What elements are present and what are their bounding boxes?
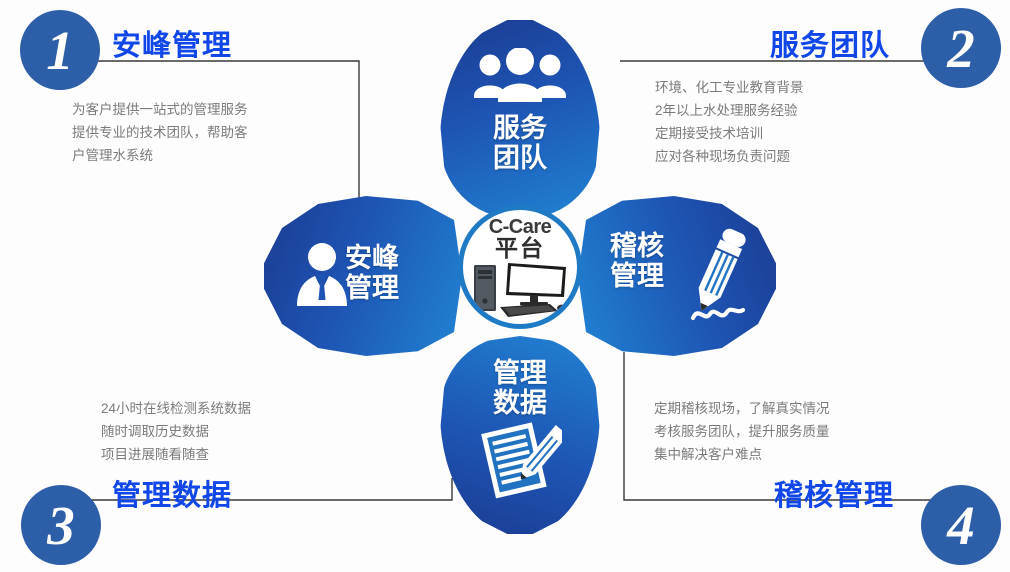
section-body-line: 定期接受技术培训 — [655, 122, 804, 145]
hub-subtitle: 平台 — [495, 237, 545, 260]
petal-label-management-data: 管理 数据 — [440, 358, 600, 418]
desktop-computer-icon — [470, 261, 570, 324]
section-body-line: 24小时在线检测系统数据 — [101, 397, 251, 420]
petal-label-service-team: 服务 团队 — [440, 113, 600, 173]
section-body-3: 24小时在线检测系统数据随时调取历史数据项目进展随看随查 — [101, 397, 251, 466]
section-body-line: 随时调取历史数据 — [101, 420, 251, 443]
section-body-line: 为客户提供一站式的管理服务 — [72, 98, 248, 121]
section-body-1: 为客户提供一站式的管理服务提供专业的技术团队，帮助客户管理水系统 — [72, 98, 248, 167]
section-body-line: 户管理水系统 — [72, 144, 248, 167]
badge-number-3: 3 — [21, 485, 101, 565]
section-title-4: 稽核管理 — [774, 472, 894, 514]
section-body-line: 提供专业的技术团队，帮助客 — [72, 121, 248, 144]
badge-number-4: 4 — [921, 485, 1001, 565]
section-body-line: 应对各种现场负责问题 — [655, 145, 804, 168]
section-body-line: 环境、化工专业教育背景 — [655, 76, 804, 99]
section-body-line: 考核服务团队，提升服务质量 — [654, 420, 830, 443]
section-title-1: 安峰管理 — [112, 22, 232, 64]
petal-label-audit-management: 稽核 管理 — [610, 231, 720, 291]
section-body-line: 集中解决客户难点 — [654, 443, 830, 466]
section-body-line: 2年以上水处理服务经验 — [655, 99, 804, 122]
clipboard-pencil-icon — [478, 418, 562, 507]
infographic-canvas: 服务 团队 安峰 管理 稽核 管理 管理 — [0, 0, 1010, 572]
section-body-line: 定期稽核现场，了解真实情况 — [654, 397, 830, 420]
group-of-people-icon — [471, 48, 569, 113]
hub-title: C-Care — [489, 217, 552, 237]
petal-label-anfeng-management: 安峰 管理 — [345, 243, 455, 303]
section-title-2: 服务团队 — [770, 22, 890, 64]
badge-number-2: 2 — [921, 8, 1001, 88]
section-body-line: 项目进展随看随查 — [101, 443, 251, 466]
section-body-2: 环境、化工专业教育背景2年以上水处理服务经验定期接受技术培训应对各种现场负责问题 — [655, 76, 804, 168]
section-body-4: 定期稽核现场，了解真实情况考核服务团队，提升服务质量集中解决客户难点 — [654, 397, 830, 466]
hub-c-care-platform[interactable]: C-Care 平台 — [458, 205, 582, 329]
businessman-icon — [291, 238, 353, 313]
section-title-3: 管理数据 — [112, 472, 232, 514]
badge-number-1: 1 — [20, 10, 100, 90]
